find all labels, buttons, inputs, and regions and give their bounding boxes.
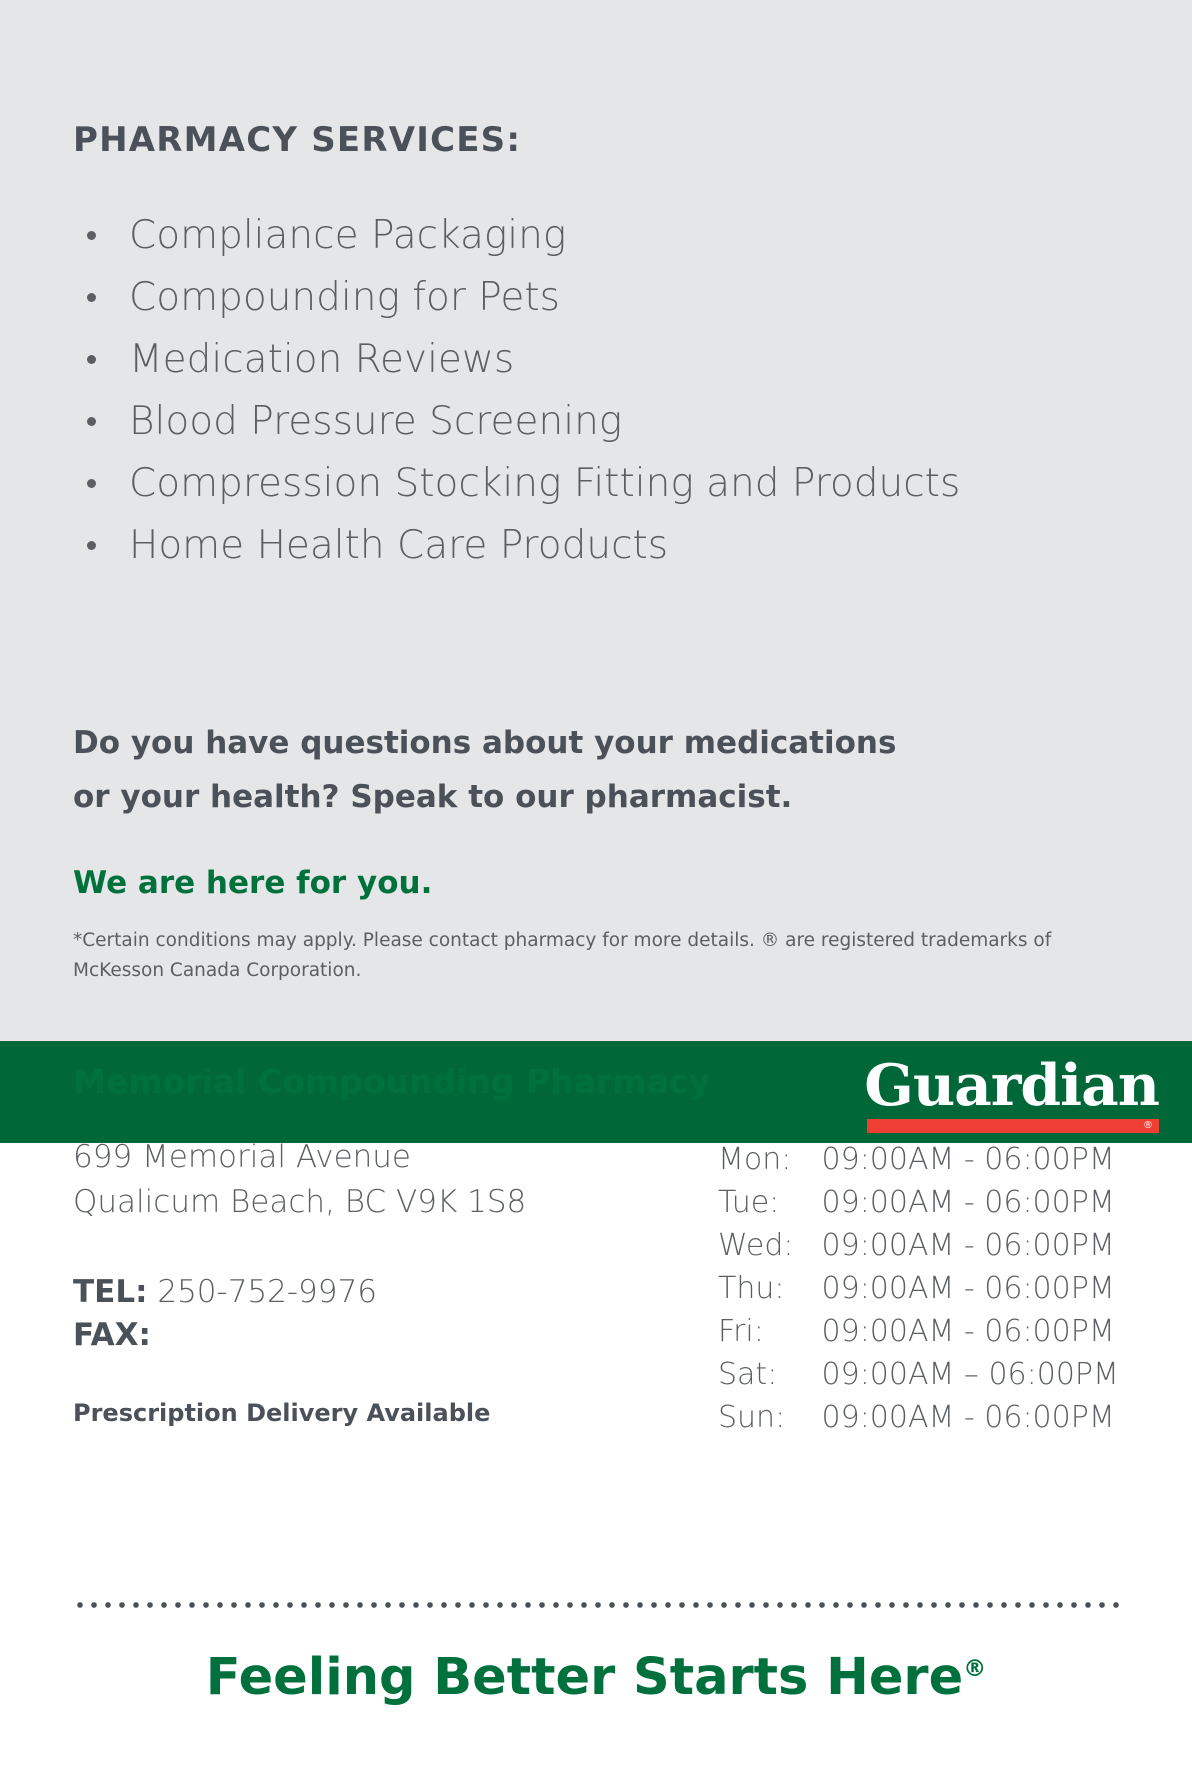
hours-time: 09:00AM - 06:00PM (822, 1396, 1119, 1439)
bullet-icon (87, 417, 96, 426)
bullet-icon (87, 541, 96, 550)
telephone-value: 250-752-9976 (157, 1274, 377, 1310)
fax-row: FAX: (73, 1314, 673, 1357)
service-label: Compounding for Pets (129, 275, 560, 320)
question-line-1: Do you have questions about your medicat… (73, 716, 896, 770)
hours-time: 09:00AM - 06:00PM (822, 1138, 1119, 1181)
address-line-2: Qualicum Beach, BC V9K 1S8 (73, 1180, 673, 1225)
store-hours-table: Mon: 09:00AM - 06:00PM Tue: 09:00AM - 06… (718, 1138, 1119, 1439)
service-item: Blood Pressure Screening (73, 391, 960, 453)
hours-row: Tue: 09:00AM - 06:00PM (718, 1181, 1119, 1224)
reassurance-text: We are here for you. (73, 865, 432, 901)
tagline-text: Feeling Better Starts Here (206, 1648, 963, 1707)
telephone-label: TEL: (73, 1274, 147, 1310)
hours-day: Fri: (718, 1310, 822, 1353)
bullet-icon (87, 355, 96, 364)
hours-time: 09:00AM - 06:00PM (822, 1310, 1119, 1353)
address-line-1: 699 Memorial Avenue (73, 1135, 673, 1180)
service-item: Compliance Packaging (73, 205, 960, 267)
pharmacy-flyer-page: PHARMACY SERVICES: Compliance Packaging … (0, 0, 1192, 1785)
pharmacist-question: Do you have questions about your medicat… (73, 716, 896, 824)
telephone-row: TEL: 250-752-9976 (73, 1271, 673, 1314)
hours-day: Thu: (718, 1267, 822, 1310)
store-name: Memorial Compounding Pharmacy (73, 1062, 710, 1101)
registered-trademark-icon: ® (1143, 1119, 1153, 1133)
service-item: Compression Stocking Fitting and Product… (73, 453, 960, 515)
hours-day: Sat: (718, 1353, 822, 1396)
hours-time: 09:00AM – 06:00PM (822, 1353, 1119, 1396)
hours-time: 09:00AM - 06:00PM (822, 1224, 1119, 1267)
hours-row: Wed: 09:00AM - 06:00PM (718, 1224, 1119, 1267)
delivery-note: Prescription Delivery Available (73, 1399, 673, 1427)
hours-day: Wed: (718, 1224, 822, 1267)
hours-day: Sun: (718, 1396, 822, 1439)
guardian-underline-bar: ® (867, 1119, 1159, 1133)
bullet-icon (87, 293, 96, 302)
services-panel: PHARMACY SERVICES: Compliance Packaging … (0, 0, 1192, 1041)
registered-trademark-icon: ® (963, 1656, 986, 1682)
service-label: Home Health Care Products (129, 523, 668, 568)
services-list: Compliance Packaging Compounding for Pet… (73, 205, 960, 577)
hours-time: 09:00AM - 06:00PM (822, 1181, 1119, 1224)
fax-label: FAX: (73, 1317, 151, 1353)
service-label: Compliance Packaging (129, 213, 566, 258)
hours-row: Thu: 09:00AM - 06:00PM (718, 1267, 1119, 1310)
tagline: Feeling Better Starts Here® (0, 1648, 1192, 1707)
guardian-wordmark: Guardian (861, 1057, 1159, 1115)
store-contact-column: 699 Memorial Avenue Qualicum Beach, BC V… (73, 1135, 673, 1427)
hours-row: Fri: 09:00AM - 06:00PM (718, 1310, 1119, 1353)
contact-block: TEL: 250-752-9976 FAX: (73, 1271, 673, 1357)
hours-row: Sun: 09:00AM - 06:00PM (718, 1396, 1119, 1439)
bullet-icon (87, 231, 96, 240)
dotted-divider (73, 1601, 1119, 1609)
guardian-logo: Guardian ® (867, 1057, 1159, 1133)
legal-disclaimer: *Certain conditions may apply. Please co… (73, 926, 1063, 986)
service-item: Medication Reviews (73, 329, 960, 391)
service-item: Home Health Care Products (73, 515, 960, 577)
question-line-2: or your health? Speak to our pharmacist. (73, 770, 896, 824)
bullet-icon (87, 479, 96, 488)
hours-row: Sat: 09:00AM – 06:00PM (718, 1353, 1119, 1396)
services-heading: PHARMACY SERVICES: (73, 120, 521, 160)
hours-time: 09:00AM - 06:00PM (822, 1267, 1119, 1310)
service-label: Medication Reviews (129, 337, 514, 382)
service-label: Compression Stocking Fitting and Product… (129, 461, 960, 506)
service-label: Blood Pressure Screening (129, 399, 622, 444)
service-item: Compounding for Pets (73, 267, 960, 329)
hours-day: Tue: (718, 1181, 822, 1224)
hours-row: Mon: 09:00AM - 06:00PM (718, 1138, 1119, 1181)
hours-day: Mon: (718, 1138, 822, 1181)
